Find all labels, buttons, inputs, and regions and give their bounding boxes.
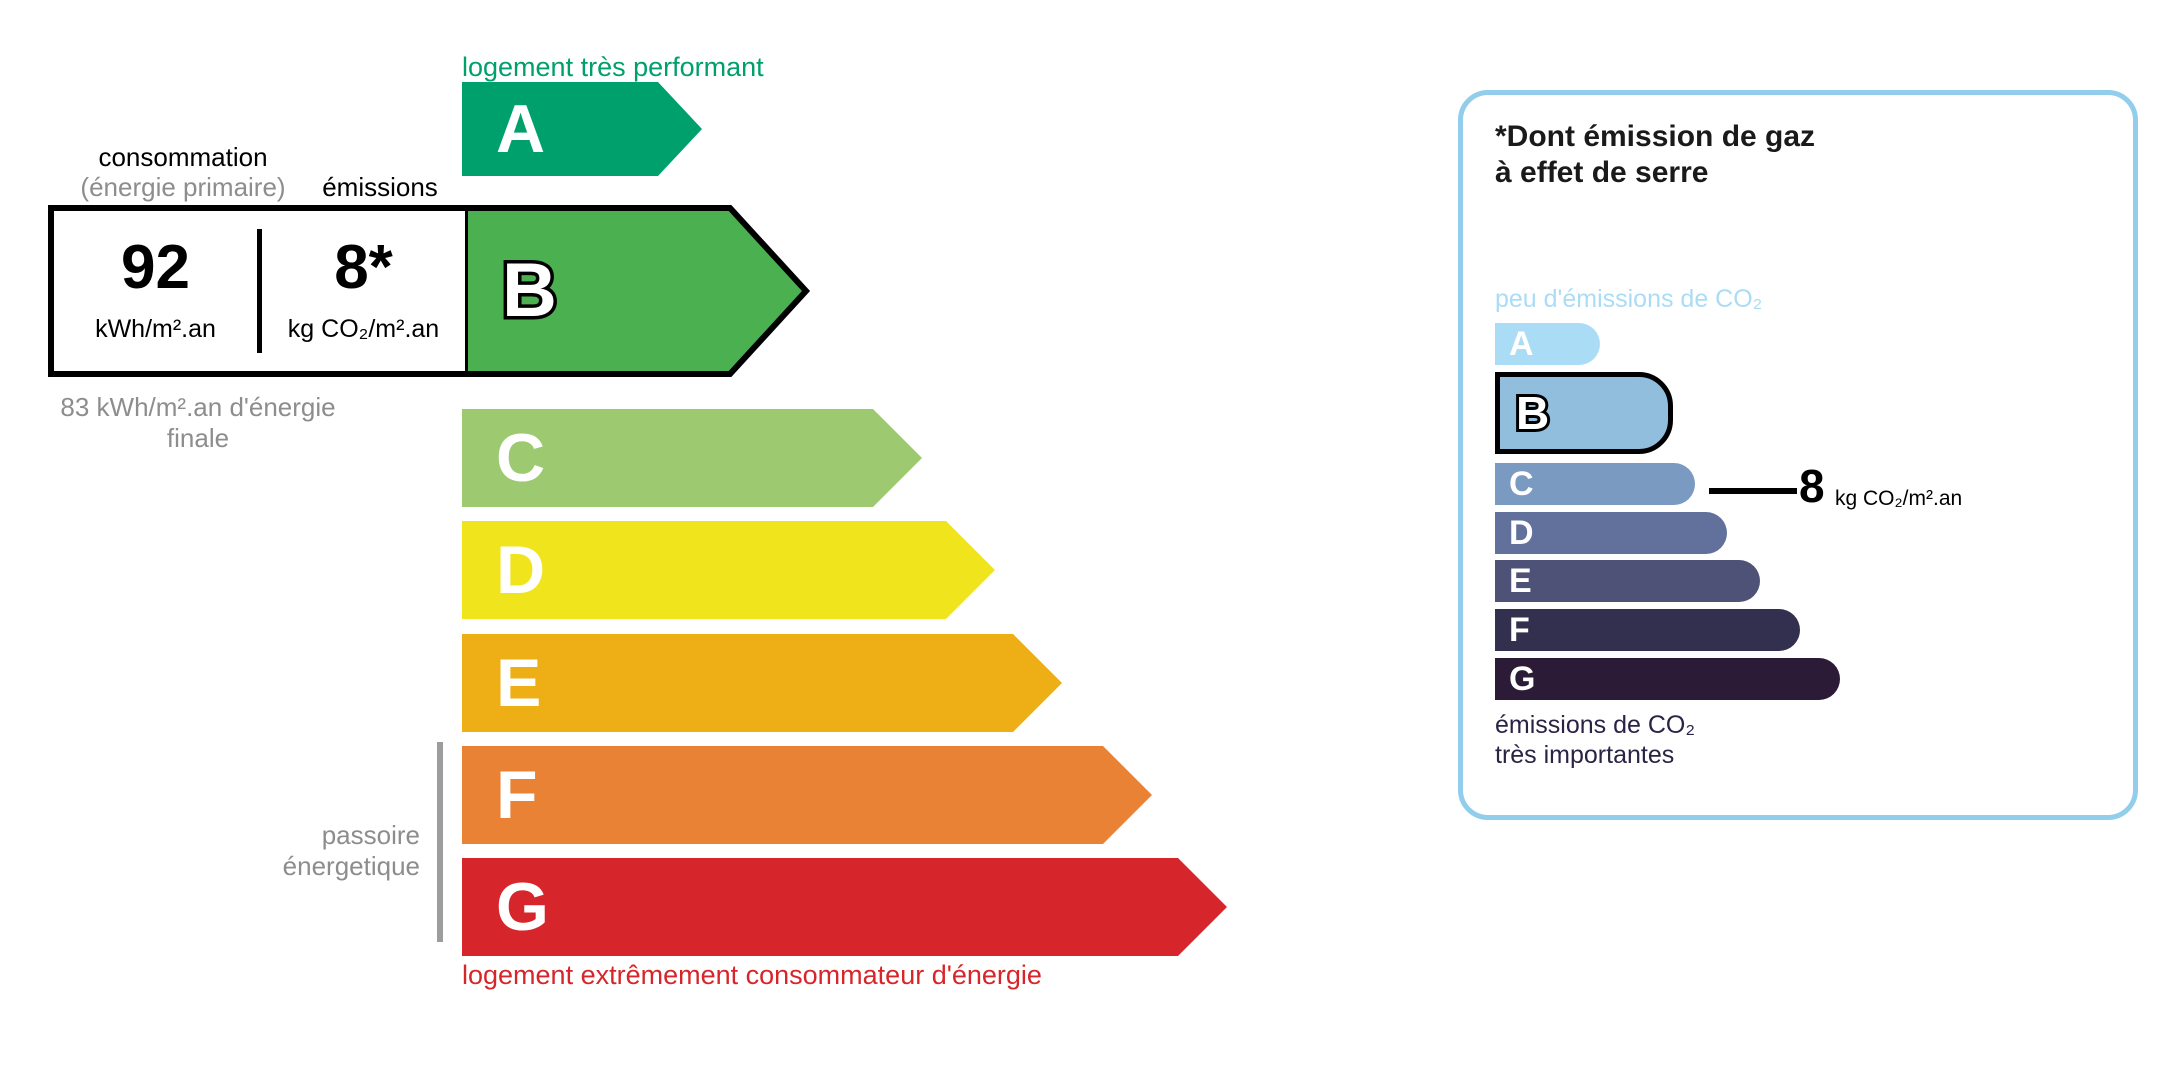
co2-bar-g: G [1495,658,1840,700]
co2-bar-c: C [1495,463,1695,505]
energy-caption-bottom: logement extrêmement consommateur d'éner… [462,960,1042,991]
co2-bar-a-letter: A [1509,327,1534,361]
energy-bar-d-letter: D [496,536,545,604]
consumption-unit: kWh/m².an [54,315,257,344]
co2-bar-f: F [1495,609,1800,651]
emission-cell: 8* kg CO₂/m².an [262,211,465,371]
header-emissions: émissions [300,172,460,203]
co2-bar-f-letter: F [1509,613,1530,647]
consumption-cell: 92 kWh/m².an [54,211,257,371]
co2-bar-d: D [1495,512,1727,554]
passoire-marker-bar [437,742,443,942]
co2-bar-d-letter: D [1509,516,1534,550]
ghg-card-title: *Dont émission de gaz à effet de serre [1495,119,1815,191]
co2-bar-g-letter: G [1509,662,1535,696]
co2-value-unit: kg CO₂/m².an [1835,487,1962,511]
ghg-caption-top: peu d'émissions de CO₂ [1495,285,1762,314]
energy-bar-e: E [462,634,1062,732]
energy-bar-f-letter: F [496,761,538,829]
energy-bar-e-letter: E [496,649,541,717]
co2-bar-a: A [1495,323,1600,365]
energy-caption-top: logement très performant [462,52,764,83]
passoire-label: passoire énergetique [210,820,420,881]
energy-bar-c-letter: C [496,424,545,492]
emission-unit: kg CO₂/m².an [262,315,465,344]
consumption-value: 92 [54,237,257,299]
energy-bar-a: A [462,82,702,176]
energy-bar-c: C [462,409,922,507]
header-consumption: consommation [58,142,308,173]
emission-value: 8* [262,237,465,299]
co2-bar-b: B [1495,372,1673,454]
energy-performance-panel: logement très performant consommation (é… [0,0,1400,1079]
energy-bar-g: G [462,858,1227,956]
ghg-caption-bottom: émissions de CO₂ très importantes [1495,710,1695,770]
co2-bar-e-letter: E [1509,564,1532,598]
header-consumption-subtitle: (énergie primaire) [48,172,318,203]
co2-bar-b-letter: B [1516,390,1549,436]
co2-bar-e: E [1495,560,1760,602]
energy-bar-b: B [462,205,812,377]
co2-bar-c-letter: C [1509,467,1534,501]
value-box: 92 kWh/m².an 8* kg CO₂/m².an [48,205,465,377]
dpe-diagram: logement très performant consommation (é… [0,0,2170,1079]
co2-leader-line [1709,488,1797,494]
ghg-emissions-card: *Dont émission de gaz à effet de serre p… [1458,90,2138,820]
co2-value: 8 [1799,463,1825,509]
energy-bar-g-letter: G [496,873,549,941]
energy-bar-b-letter: B [502,253,557,329]
final-energy-note: 83 kWh/m².an d'énergie finale [48,392,348,453]
energy-bar-f: F [462,746,1152,844]
energy-bar-d: D [462,521,995,619]
energy-bar-a-letter: A [496,95,545,163]
